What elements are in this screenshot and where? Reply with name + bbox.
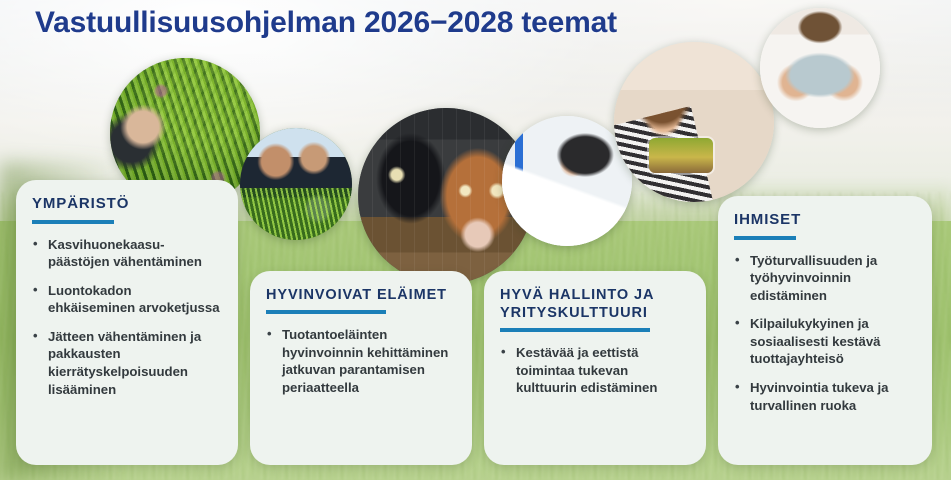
card-title-hyvinvoivat-elaimet: HYVINVOIVAT ELÄIMET	[266, 286, 456, 304]
bullet-list-ihmiset: Työturvallisuuden ja työhyvinvoinnin edi…	[734, 252, 916, 414]
title-underline-rule	[500, 328, 650, 332]
list-item: Kestävää ja eettistä toimintaa tukevan k…	[500, 344, 690, 397]
card-title-ymparisto: YMPÄRISTÖ	[32, 195, 222, 214]
bullet-list-hyva-hallinto: Kestävää ja eettistä toimintaa tukevan k…	[500, 344, 690, 397]
list-item: Luontokadon ehkäiseminen arvoketjussa	[32, 282, 222, 317]
list-item: Hyvinvointia tukeva ja turvallinen ruoka	[734, 379, 916, 414]
theme-card-hyvinvoivat-elaimet: HYVINVOIVAT ELÄIMET Tuotantoeläinten hyv…	[250, 271, 472, 465]
food-production-worker-photo	[502, 116, 632, 246]
two-farmers-in-field-photo	[240, 128, 352, 240]
theme-card-ihmiset: IHMISET Työturvallisuuden ja työhyvinvoi…	[718, 196, 932, 465]
page-title: Vastuullisuusohjelman 2026−2028 teemat	[35, 6, 617, 40]
people-eating-salad-photo	[614, 42, 774, 202]
bullet-list-ymparisto: Kasvihuonekaasu-päästöjen vähentäminen L…	[32, 236, 222, 398]
list-item: Jätteen vähentäminen ja pakkausten kierr…	[32, 328, 222, 398]
theme-card-ymparisto: YMPÄRISTÖ Kasvihuonekaasu-päästöjen vähe…	[16, 180, 238, 465]
hands-holding-salad-bowl-photo	[760, 8, 880, 128]
card-title-hyva-hallinto-ja-yrityskulttuuri: HYVÄ HALLINTO JA YRITYSKULTTUURI	[500, 286, 690, 322]
salad-bowl-shape	[649, 138, 713, 173]
bullet-list-hyvinvoivat-elaimet: Tuotantoeläinten hyvinvoinnin kehittämin…	[266, 326, 456, 396]
list-item: Kilpailukykyinen ja sosiaalisesti kestäv…	[734, 315, 916, 368]
list-item: Työturvallisuuden ja työhyvinvoinnin edi…	[734, 252, 916, 305]
list-item: Kasvihuonekaasu-päästöjen vähentäminen	[32, 236, 222, 271]
title-underline-rule	[734, 236, 796, 240]
title-underline-rule	[266, 310, 386, 314]
list-item: Tuotantoeläinten hyvinvoinnin kehittämin…	[266, 326, 456, 396]
card-title-ihmiset: IHMISET	[734, 211, 916, 230]
title-underline-rule	[32, 220, 114, 224]
theme-card-hyva-hallinto-ja-yrityskulttuuri: HYVÄ HALLINTO JA YRITYSKULTTUURI Kestävä…	[484, 271, 706, 465]
